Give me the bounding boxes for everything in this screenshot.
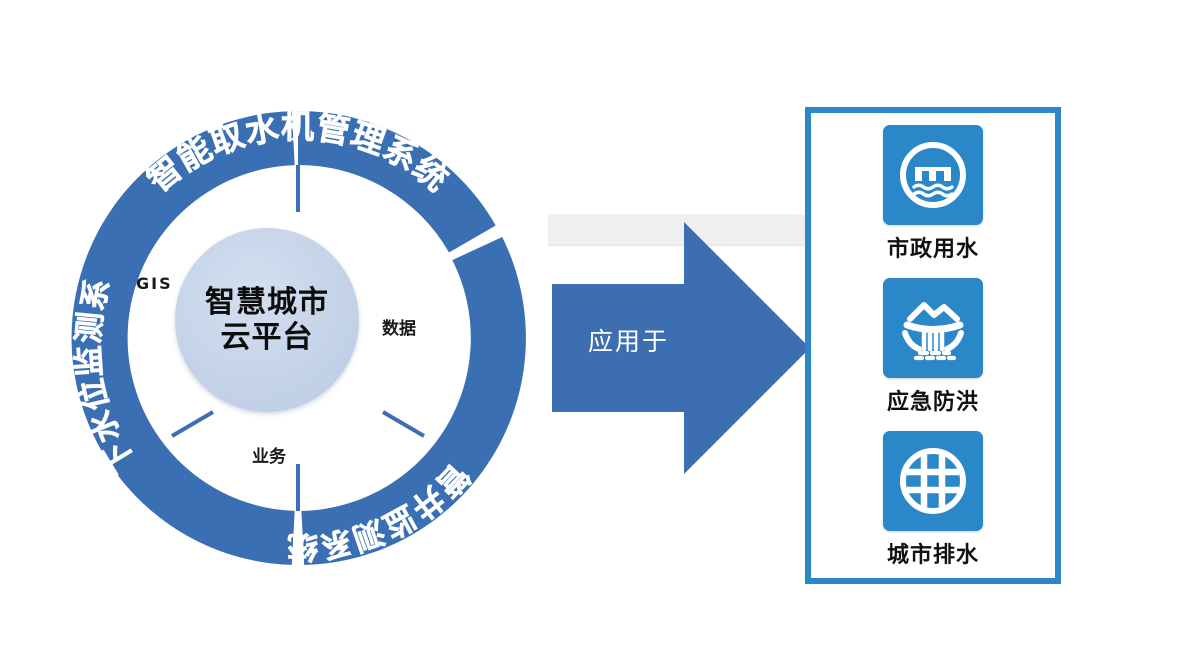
urban-drainage-tile[interactable] [883, 431, 983, 531]
urban-drainage-icon [895, 443, 971, 519]
flood-control-icon [894, 289, 972, 367]
application-label-urban-drainage: 城市排水 [887, 537, 979, 569]
application-label-flood-control: 应急防洪 [887, 384, 979, 416]
arrow-label: 应用于 [588, 322, 669, 358]
application-item-urban-drainage[interactable]: 城市排水 [883, 431, 983, 569]
municipal-water-tile[interactable] [883, 125, 983, 225]
applications-panel: 市政用水 [805, 107, 1061, 584]
application-item-municipal-water[interactable]: 市政用水 [883, 125, 983, 263]
wheel-inner-tag-data: 数据 [382, 314, 416, 339]
flood-control-tile[interactable] [883, 278, 983, 378]
wheel-inner-tag-gis: GIS [136, 274, 173, 293]
core-title-line2: 云平台 [221, 320, 314, 355]
application-label-municipal-water: 市政用水 [887, 231, 979, 263]
smart-city-wheel: 智能取水机管理系统 管井监测系统 地下水位监测系统 GIS 数据 业务 智慧城市… [52, 92, 544, 584]
wheel-core[interactable]: 智慧城市 云平台 [175, 228, 359, 412]
municipal-water-icon [895, 137, 971, 213]
wheel-inner-tag-biz: 业务 [252, 442, 286, 467]
core-title-line1: 智慧城市 [205, 285, 329, 320]
application-item-flood-control[interactable]: 应急防洪 [883, 278, 983, 416]
diagram-canvas: 智能取水机管理系统 管井监测系统 地下水位监测系统 GIS 数据 业务 智慧城市… [0, 0, 1188, 666]
